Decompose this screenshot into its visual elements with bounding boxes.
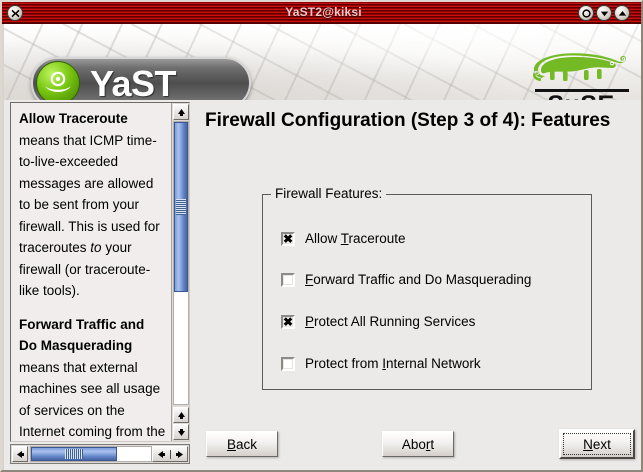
checkbox-label: Protect All Running Services [305,313,475,331]
vertical-scroll-track[interactable] [173,121,189,405]
abort-button[interactable]: Abort [382,431,454,457]
scroll-right-arrow-icon [175,450,184,459]
help-paragraph-2: Forward Traffic and Do Masquerading mean… [19,314,166,442]
help-horizontal-scrollbar[interactable] [10,444,190,464]
help-body-1-italic: to [90,240,101,255]
yast-window: YaST2@kiksi [0,0,643,472]
group-legend: Firewall Features: [271,186,386,202]
help-text: Allow Traceroute means that ICMP time-to… [11,103,171,441]
minimize-triangle-down-icon[interactable] [596,5,612,21]
suse-logo: SuSE [527,50,635,100]
help-heading-1: Allow Traceroute [19,111,128,126]
checkbox-label: Allow Traceroute [305,230,406,248]
yast-wordmark: YaST [90,62,176,100]
horizontal-scroll-thumb[interactable] [31,447,117,461]
help-body-2: means that external machines see all usa… [19,360,165,442]
content-area: Allow Traceroute means that ICMP time-to… [4,100,643,472]
yast-logo: YaST [31,57,251,100]
scroll-up-arrow-icon-secondary[interactable] [173,407,189,423]
checkmark-x-icon: ✖ [283,317,293,327]
scroll-thumb-grip [65,449,83,459]
next-button[interactable]: Next [559,429,635,459]
abort-button-label: Abort [402,437,434,452]
horizontal-scroll-arrow-pair[interactable] [152,446,188,462]
back-button[interactable]: Back [206,431,278,457]
checkbox-label: Forward Traffic and Do Masquerading [305,271,531,289]
checkmark-x-icon: ✖ [283,234,293,244]
suse-wordmark: SuSE [527,92,635,100]
checkbox-box[interactable] [281,357,295,371]
checkbox-protect-all-running-services[interactable]: ✖ Protect All Running Services [281,312,475,332]
back-button-label: Back [227,437,257,452]
yast-banner: YaST SuSE [4,24,643,100]
scroll-thumb-grip [176,199,186,215]
scroll-up-arrow-icon[interactable] [173,104,189,120]
scroll-left-arrow-icon[interactable] [12,446,28,462]
help-body-1a: means that ICMP time-to-live-exceeded me… [19,133,160,256]
checkbox-protect-from-internal-network[interactable]: Protect from Internal Network [281,354,481,374]
window-titlebar[interactable]: YaST2@kiksi [2,2,643,24]
vertical-scroll-thumb[interactable] [174,122,188,292]
next-button-label: Next [583,437,611,452]
checkbox-forward-traffic-masquerading[interactable]: Forward Traffic and Do Masquerading [281,270,531,290]
help-paragraph-1: Allow Traceroute means that ICMP time-to… [19,108,166,302]
window-title: YaST2@kiksi [2,4,643,20]
checkbox-allow-traceroute[interactable]: ✖ Allow Traceroute [281,229,406,249]
checkbox-box[interactable]: ✖ [281,315,295,329]
horizontal-scroll-track[interactable] [30,446,152,462]
scroll-left-arrow-icon [157,450,166,459]
checkbox-box[interactable] [281,273,295,287]
geeko-chameleon-icon [527,50,635,92]
arrow-separator [170,450,171,459]
checkbox-box[interactable]: ✖ [281,232,295,246]
checkbox-label: Protect from Internal Network [305,355,481,373]
help-panel: Allow Traceroute means that ICMP time-to… [10,102,190,442]
geeko-ball-icon [36,61,80,100]
page-title: Firewall Configuration (Step 3 of 4): Fe… [205,108,643,134]
firewall-features-group: Firewall Features: ✖ Allow Traceroute Fo… [262,194,592,390]
main-pane: Firewall Configuration (Step 3 of 4): Fe… [196,100,643,472]
close-icon[interactable] [7,5,23,21]
help-heading-2: Forward Traffic and Do Masquerading [19,317,144,354]
scroll-down-arrow-icon[interactable] [173,424,189,440]
shade-circle-icon[interactable] [578,5,594,21]
maximize-triangle-up-icon[interactable] [614,5,630,21]
help-vertical-scrollbar[interactable] [171,103,189,441]
